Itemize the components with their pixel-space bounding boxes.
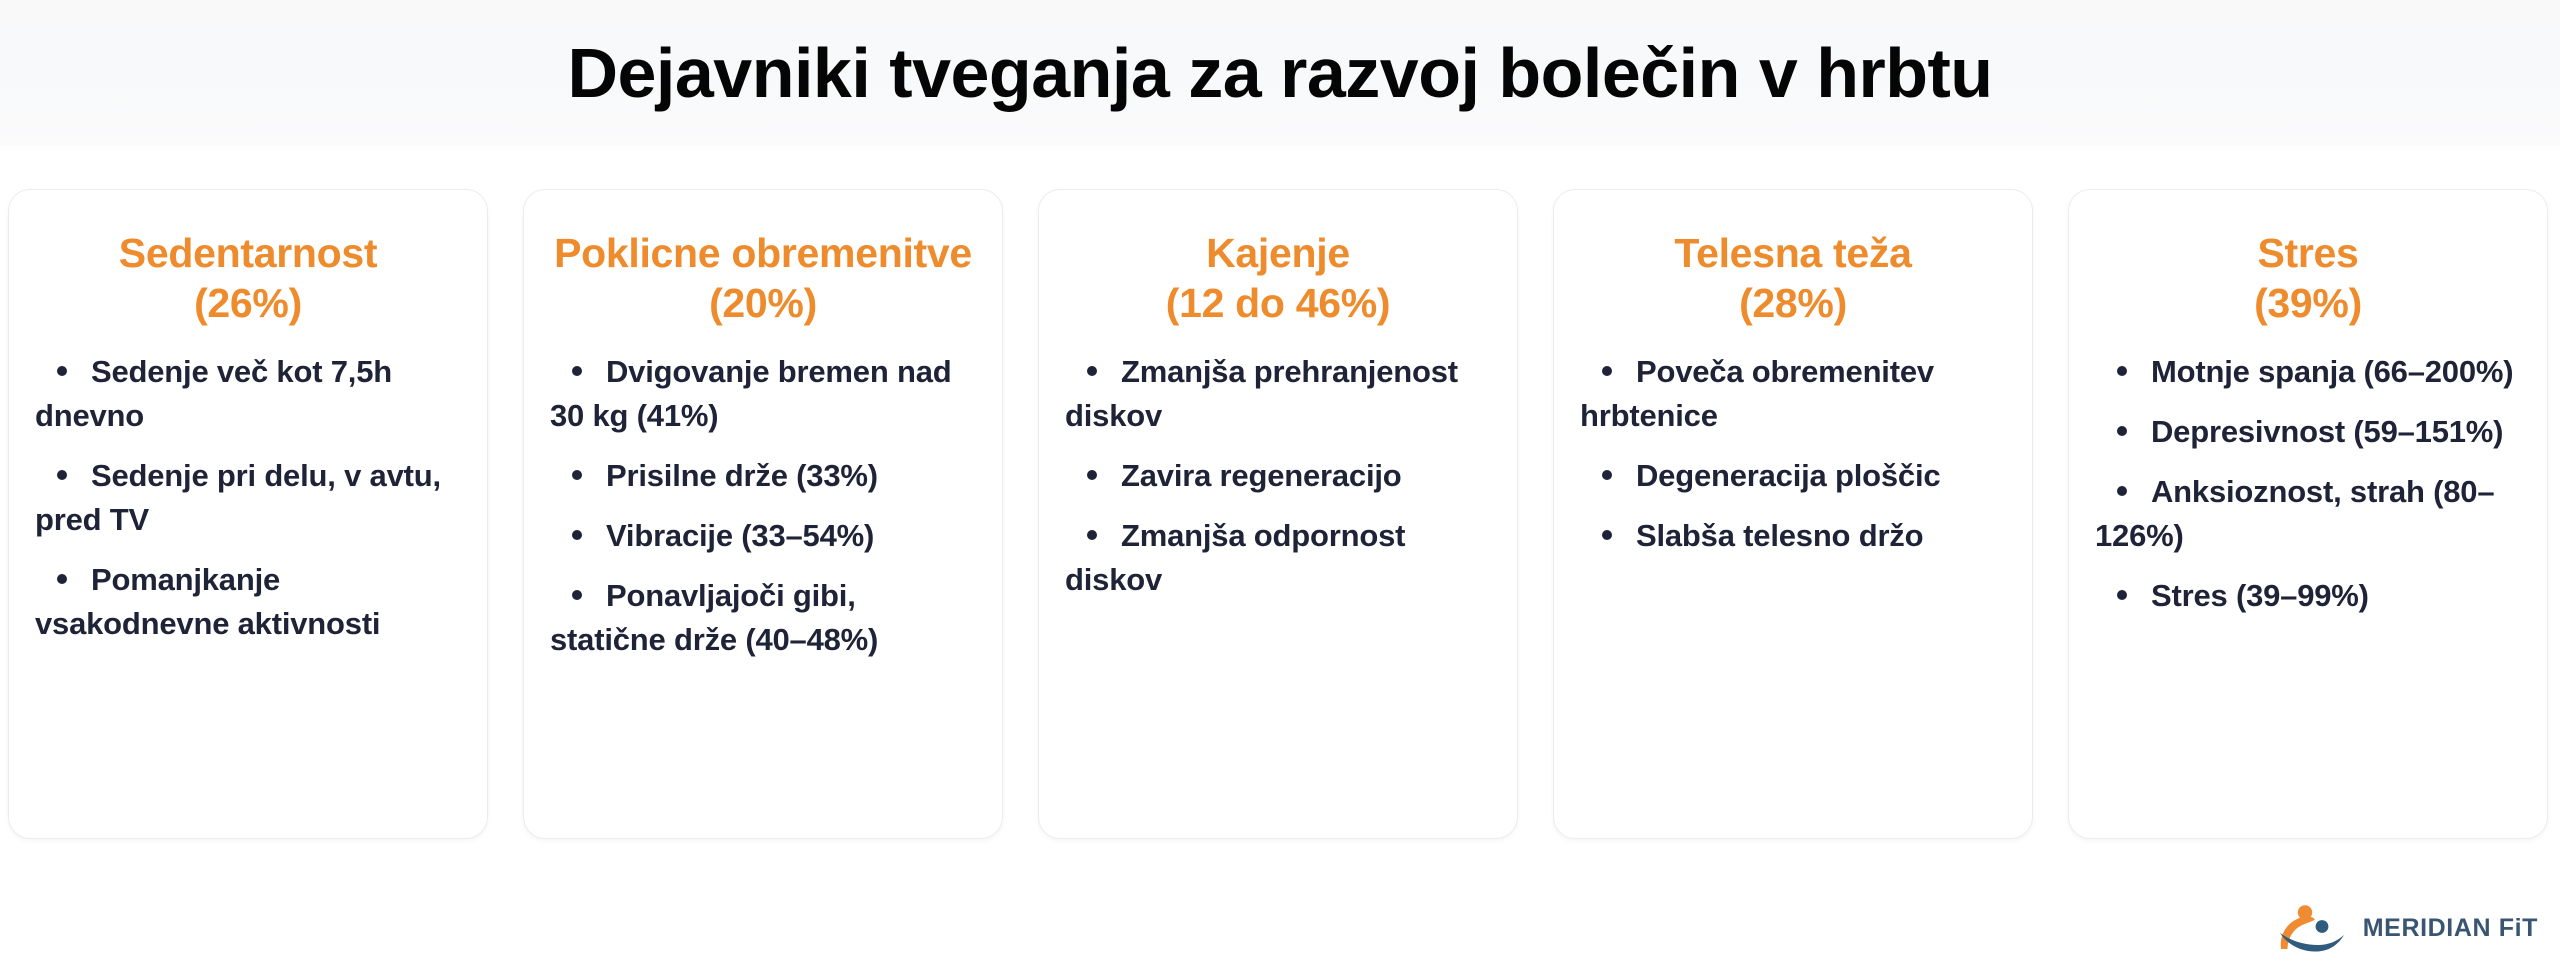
card-bullet-item: Degeneracija ploščic <box>1580 454 2006 498</box>
card-bullet-text: Poveča obremenitev hrbtenice <box>1580 354 1934 433</box>
card-bullet-text: Anksioznost, strah (80–126%) <box>2095 474 2494 553</box>
card-bullet-item: Ponavljajoči gibi, statične drže (40–48%… <box>550 574 976 662</box>
card-bullet-text: Zavira regeneracijo <box>1121 458 1402 493</box>
card-bullet-item: Zmanjša odpornost diskov <box>1065 514 1491 602</box>
card-bullet-text: Vibracije (33–54%) <box>606 518 874 553</box>
card-bullet-item: Vibracije (33–54%) <box>550 514 976 558</box>
bullet-dot-icon <box>2117 590 2127 600</box>
meridian-fit-figures-icon <box>2275 903 2349 953</box>
card-bullet-item: Prisilne drže (33%) <box>550 454 976 498</box>
bullet-dot-icon <box>572 590 582 600</box>
card-bullet-text: Ponavljajoči gibi, statične drže (40–48%… <box>550 578 878 657</box>
card-title-main: Sedentarnost <box>119 230 377 276</box>
bullet-dot-icon <box>2117 426 2127 436</box>
bullet-dot-icon <box>1602 530 1612 540</box>
bullet-dot-icon <box>57 366 67 376</box>
card-bullet-list: Dvigovanje bremen nad 30 kg (41%)Prisiln… <box>550 350 976 662</box>
card-title-main: Stres <box>2257 230 2358 276</box>
card-bullet-text: Zmanjša odpornost diskov <box>1065 518 1405 597</box>
card-title: Poklicne obremenitve(20%) <box>550 228 976 328</box>
card-bullet-item: Sedenje več kot 7,5h dnevno <box>35 350 461 438</box>
card-bullet-item: Zmanjša prehranjenost diskov <box>1065 350 1491 438</box>
card-bullet-item: Stres (39–99%) <box>2095 574 2521 618</box>
bullet-dot-icon <box>1087 470 1097 480</box>
card-title-main: Telesna teža <box>1674 230 1911 276</box>
card-bullet-text: Depresivnost (59–151%) <box>2151 414 2503 449</box>
bullet-dot-icon <box>1602 366 1612 376</box>
bullet-dot-icon <box>1602 470 1612 480</box>
card-bullet-item: Slabša telesno držo <box>1580 514 2006 558</box>
card-title-percentage: (26%) <box>35 278 461 328</box>
bullet-dot-icon <box>57 470 67 480</box>
bullet-dot-icon <box>57 574 67 584</box>
card-title-main: Poklicne obremenitve <box>554 230 972 276</box>
card-bullet-item: Anksioznost, strah (80–126%) <box>2095 470 2521 558</box>
card-bullet-text: Dvigovanje bremen nad 30 kg (41%) <box>550 354 952 433</box>
card-title-percentage: (12 do 46%) <box>1065 278 1491 328</box>
brand-wordmark: MERIDIAN FiT <box>2363 914 2538 943</box>
card-title-percentage: (20%) <box>550 278 976 328</box>
card-bullet-text: Prisilne drže (33%) <box>606 458 878 493</box>
card-title-percentage: (39%) <box>2095 278 2521 328</box>
risk-factor-card: Sedentarnost(26%)Sedenje več kot 7,5h dn… <box>8 189 488 839</box>
header-band: Dejavniki tveganja za razvoj bolečin v h… <box>0 0 2560 146</box>
card-bullet-item: Dvigovanje bremen nad 30 kg (41%) <box>550 350 976 438</box>
card-bullet-list: Sedenje več kot 7,5h dnevnoSedenje pri d… <box>35 350 461 646</box>
card-title: Kajenje(12 do 46%) <box>1065 228 1491 328</box>
card-bullet-item: Poveča obremenitev hrbtenice <box>1580 350 2006 438</box>
card-title-percentage: (28%) <box>1580 278 2006 328</box>
card-bullet-list: Zmanjša prehranjenost diskovZavira regen… <box>1065 350 1491 602</box>
card-bullet-text: Motnje spanja (66–200%) <box>2151 354 2513 389</box>
card-bullet-text: Slabša telesno držo <box>1636 518 1923 553</box>
card-title: Stres(39%) <box>2095 228 2521 328</box>
card-bullet-item: Pomanjkanje vsakodnevne aktivnosti <box>35 558 461 646</box>
risk-factor-card: Poklicne obremenitve(20%)Dvigovanje brem… <box>523 189 1003 839</box>
risk-factor-card: Telesna teža(28%)Poveča obremenitev hrbt… <box>1553 189 2033 839</box>
card-bullet-text: Sedenje več kot 7,5h dnevno <box>35 354 392 433</box>
bullet-dot-icon <box>572 530 582 540</box>
risk-factor-card: Stres(39%)Motnje spanja (66–200%)Depresi… <box>2068 189 2548 839</box>
bullet-dot-icon <box>572 470 582 480</box>
card-bullet-item: Zavira regeneracijo <box>1065 454 1491 498</box>
page-title: Dejavniki tveganja za razvoj bolečin v h… <box>567 35 1992 112</box>
card-bullet-text: Pomanjkanje vsakodnevne aktivnosti <box>35 562 380 641</box>
card-bullet-item: Sedenje pri delu, v avtu, pred TV <box>35 454 461 542</box>
card-title: Sedentarnost(26%) <box>35 228 461 328</box>
bullet-dot-icon <box>2117 366 2127 376</box>
card-bullet-text: Degeneracija ploščic <box>1636 458 1940 493</box>
risk-factor-card: Kajenje(12 do 46%)Zmanjša prehranjenost … <box>1038 189 1518 839</box>
card-bullet-text: Zmanjša prehranjenost diskov <box>1065 354 1458 433</box>
card-bullet-list: Motnje spanja (66–200%)Depresivnost (59–… <box>2095 350 2521 618</box>
brand-logo: MERIDIAN FiT <box>2275 903 2538 953</box>
card-bullet-item: Depresivnost (59–151%) <box>2095 410 2521 454</box>
bullet-dot-icon <box>572 366 582 376</box>
card-title-main: Kajenje <box>1206 230 1350 276</box>
bullet-dot-icon <box>1087 530 1097 540</box>
risk-factor-cards-row: Sedentarnost(26%)Sedenje več kot 7,5h dn… <box>8 189 2552 839</box>
card-bullet-list: Poveča obremenitev hrbteniceDegeneracija… <box>1580 350 2006 558</box>
card-bullet-item: Motnje spanja (66–200%) <box>2095 350 2521 394</box>
bullet-dot-icon <box>1087 366 1097 376</box>
card-bullet-text: Stres (39–99%) <box>2151 578 2369 613</box>
card-title: Telesna teža(28%) <box>1580 228 2006 328</box>
card-bullet-text: Sedenje pri delu, v avtu, pred TV <box>35 458 441 537</box>
bullet-dot-icon <box>2117 486 2127 496</box>
